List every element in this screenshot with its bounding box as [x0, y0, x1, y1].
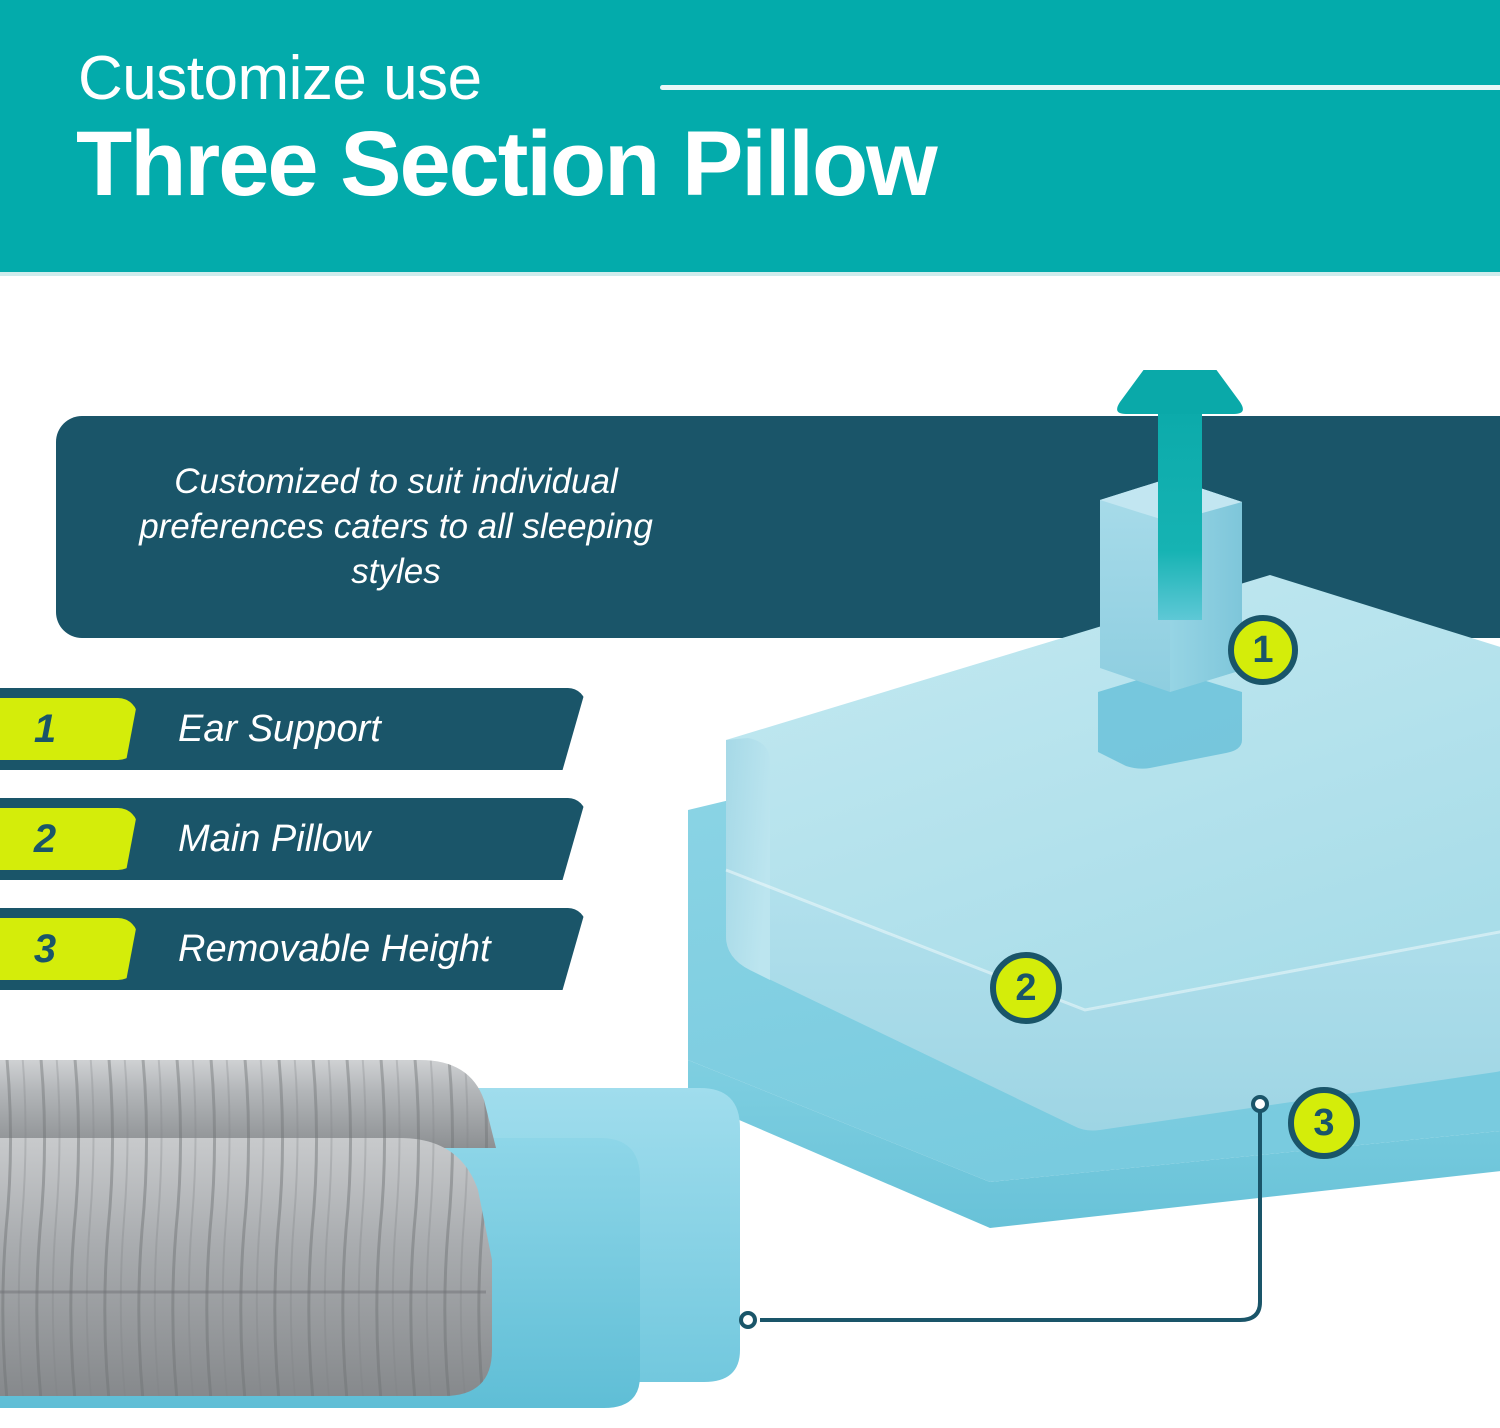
- legend-label-removable-height: Removable Height: [178, 908, 491, 990]
- legend-item-2[interactable]: 2 Main Pillow: [0, 798, 600, 880]
- legend-number-pill: 2: [0, 808, 138, 870]
- legend-number-pill: 3: [0, 918, 138, 980]
- legend-number-pill: 1: [0, 698, 138, 760]
- infographic-page: Customize use Three Section Pillow Custo…: [0, 0, 1500, 1428]
- legend-label-main-pillow: Main Pillow: [178, 798, 370, 880]
- header-banner: Customize use Three Section Pillow: [0, 0, 1500, 272]
- quilted-cover-rear: [0, 1060, 496, 1148]
- header-underline: [0, 272, 1500, 276]
- legend-number: 3: [0, 918, 120, 980]
- legend-item-1[interactable]: 1 Ear Support: [0, 688, 600, 770]
- quilted-cover-front: [0, 1138, 492, 1396]
- callout-badge-3[interactable]: 3: [1288, 1087, 1360, 1159]
- legend-list: 1 Ear Support 2 Main Pillow 3 Removable …: [0, 688, 620, 1018]
- description-text: Customized to suit individual preference…: [116, 460, 676, 594]
- callout-badge-1[interactable]: 1: [1228, 615, 1298, 685]
- covered-pillow-illustration: [0, 1030, 820, 1428]
- legend-number: 1: [0, 698, 120, 760]
- header-divider-rule: [660, 85, 1500, 90]
- page-title: Three Section Pillow: [76, 118, 936, 210]
- legend-label-ear-support: Ear Support: [178, 688, 381, 770]
- legend-item-3[interactable]: 3 Removable Height: [0, 908, 600, 990]
- callout-badge-2[interactable]: 2: [990, 952, 1062, 1024]
- header-eyebrow: Customize use: [78, 48, 482, 110]
- legend-number: 2: [0, 808, 120, 870]
